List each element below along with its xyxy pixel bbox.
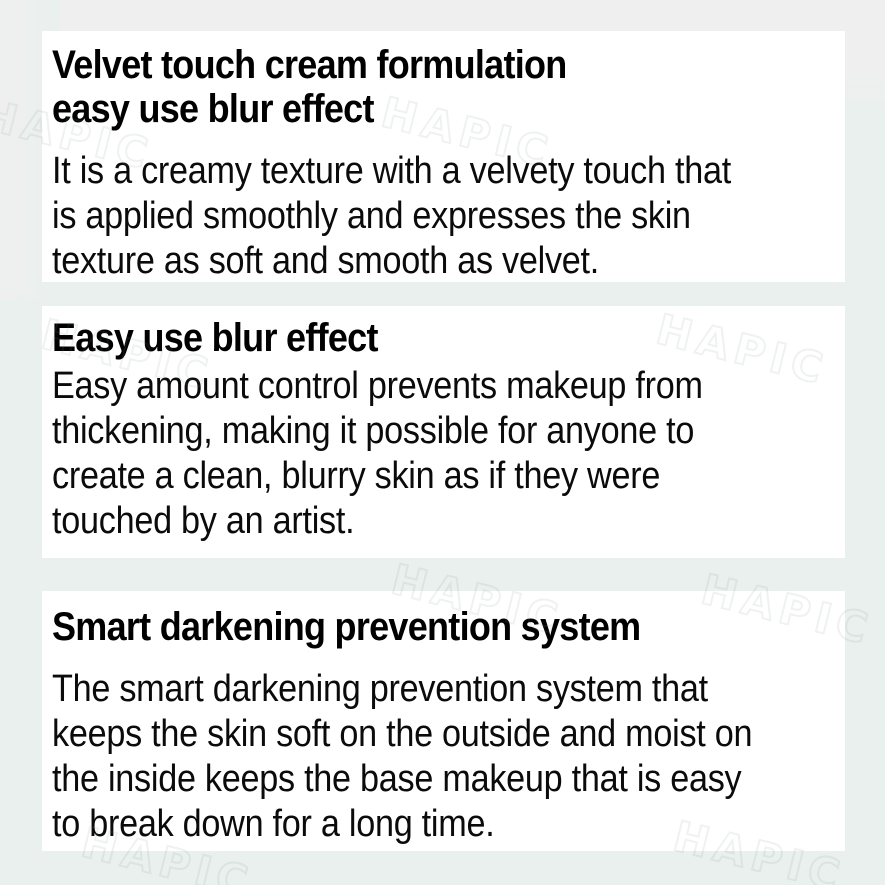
panel-body: It is a creamy texture with a velvety to… [52,131,757,284]
feature-panel-easy-use-blur: Easy use blur effect Easy amount control… [42,306,845,558]
panel-body: Easy amount control prevents makeup from… [52,360,757,544]
panel-heading: Velvet touch cream formulation easy use … [52,31,757,131]
feature-panel-smart-darkening: Smart darkening prevention system The sm… [42,591,845,851]
panel-body: The smart darkening prevention system th… [52,649,757,847]
feature-panel-velvet-touch: Velvet touch cream formulation easy use … [42,31,845,282]
product-feature-page: Velvet touch cream formulation easy use … [0,0,885,885]
panel-heading: Smart darkening prevention system [52,591,757,649]
panel-heading: Easy use blur effect [52,306,757,360]
